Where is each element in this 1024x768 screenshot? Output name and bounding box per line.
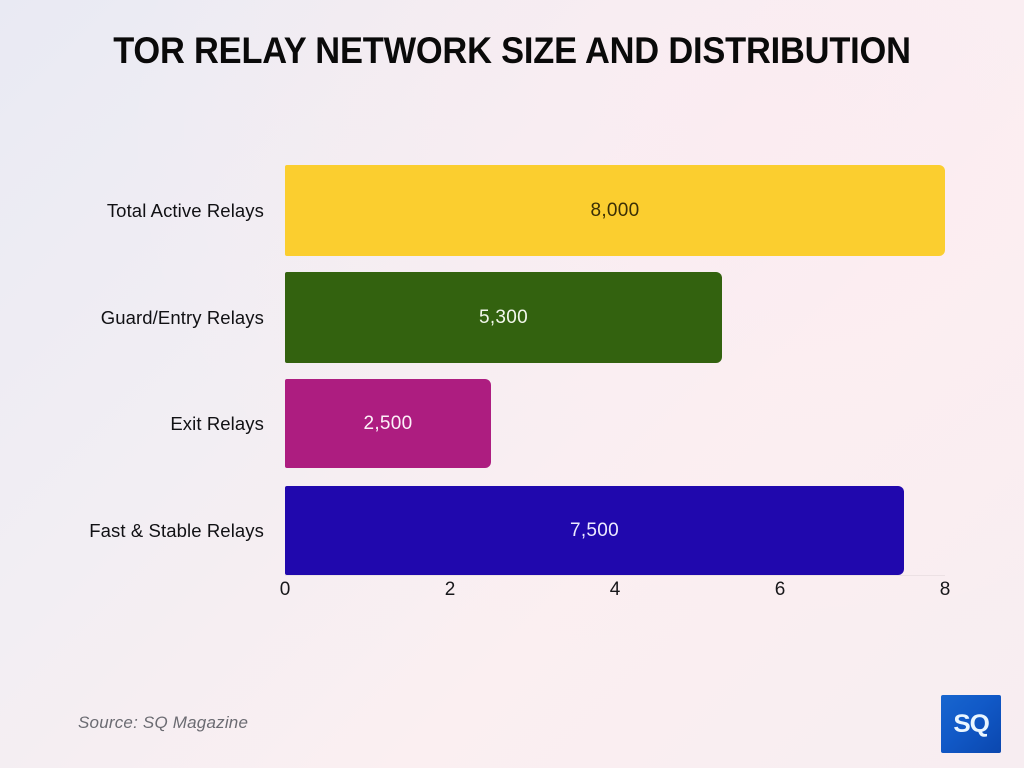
x-axis-tick-2: 2 (445, 579, 456, 601)
bar-exit-relays[interactable]: 2,500 (285, 379, 491, 468)
bar-fast-stable-relays[interactable]: 7,500 (285, 486, 904, 575)
bar-value-label: 2,500 (363, 413, 412, 435)
bar-category-label: Fast & Stable Relays (89, 520, 264, 542)
bar-row: Guard/Entry Relays 5,300 (0, 272, 1024, 363)
source-attribution: Source: SQ Magazine (78, 713, 248, 733)
logo-text: SQ (953, 710, 988, 739)
bar-guard-entry-relays[interactable]: 5,300 (285, 272, 722, 363)
bar-row: Fast & Stable Relays 7,500 (0, 486, 1024, 575)
bar-value-label: 5,300 (479, 307, 528, 329)
bar-value-label: 7,500 (570, 520, 619, 542)
x-axis-tick-0: 0 (280, 579, 291, 601)
bar-category-label: Guard/Entry Relays (101, 307, 264, 329)
bar-category-label: Total Active Relays (107, 200, 264, 222)
sq-magazine-logo: SQ (941, 695, 1001, 753)
bar-row: Total Active Relays 8,000 (0, 165, 1024, 256)
x-axis-line (285, 575, 945, 576)
x-axis-tick-6: 6 (775, 579, 786, 601)
bar-row: Exit Relays 2,500 (0, 379, 1024, 468)
chart-poster: TOR RELAY NETWORK SIZE AND DISTRIBUTION … (0, 0, 1024, 768)
bar-chart: Total Active Relays 8,000 Guard/Entry Re… (0, 0, 1024, 768)
page-title: TOR RELAY NETWORK SIZE AND DISTRIBUTION (36, 30, 988, 72)
bar-category-label: Exit Relays (170, 413, 264, 435)
x-axis-tick-4: 4 (610, 579, 621, 601)
bar-total-active-relays[interactable]: 8,000 (285, 165, 945, 256)
x-axis-tick-8: 8 (940, 579, 951, 601)
bar-value-label: 8,000 (590, 200, 639, 222)
